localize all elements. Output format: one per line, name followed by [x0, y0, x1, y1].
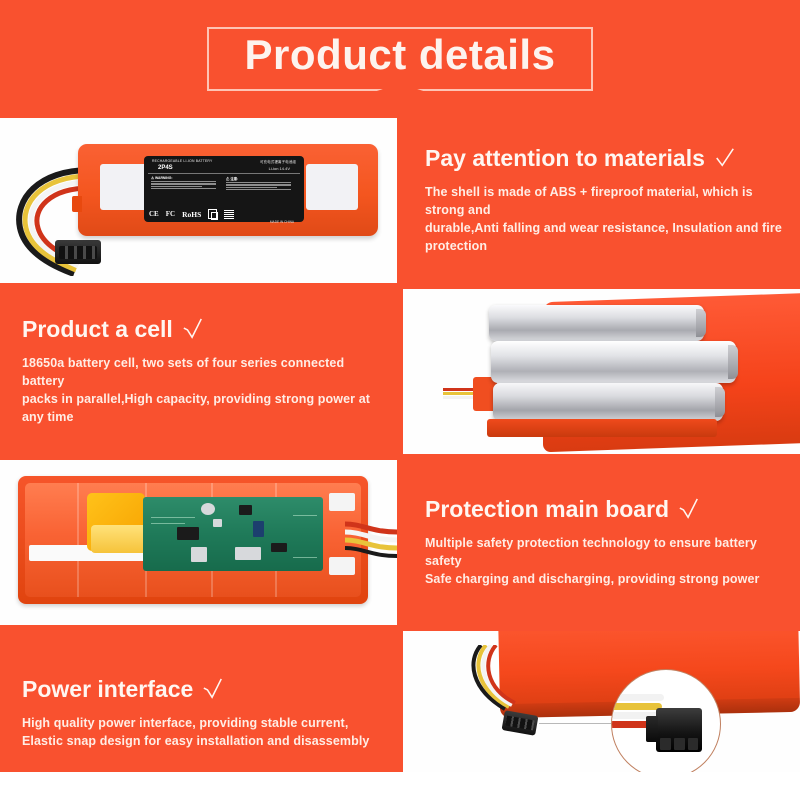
protection-body-line1: Multiple safety protection technology to…: [425, 534, 785, 570]
pack-pad-right: [306, 164, 358, 210]
footer-strip: [0, 772, 800, 800]
materials-body: The shell is made of ABS + fireproof mat…: [425, 183, 785, 256]
rohs-mark-icon: RoHS: [182, 210, 201, 219]
power-heading-text: Power interface: [22, 677, 193, 702]
label-model: 2P4S: [158, 165, 173, 171]
weee-bin-icon: [208, 209, 217, 219]
power-body: High quality power interface, providing …: [22, 714, 382, 750]
connector-magnifier: [611, 669, 721, 779]
materials-body-line1: The shell is made of ABS + fireproof mat…: [425, 183, 785, 219]
protection-heading-text: Protection main board: [425, 497, 669, 522]
fcc-mark-icon: FC: [166, 210, 175, 218]
shell-tray: [25, 483, 361, 597]
materials-heading: Pay attention to materials: [425, 146, 800, 171]
battery-label: RECHARGEABLE LI-ION BATTERY 可充电式锂离子电池组 2…: [144, 156, 304, 222]
power-body-line2: Elastic snap design for easy installatio…: [22, 732, 382, 750]
panel-materials: Pay attention to materials The shell is …: [403, 118, 800, 283]
battery-shell-open: [18, 476, 368, 604]
connector-housing: [656, 708, 702, 752]
power-body-line1: High quality power interface, providing …: [22, 714, 382, 732]
check-icon: [714, 147, 736, 169]
label-title-en: RECHARGEABLE LI-ION BATTERY: [152, 159, 212, 164]
banner-inner: Product details: [207, 27, 594, 91]
page-title: Product details: [245, 33, 556, 77]
pack-clip: [72, 196, 82, 212]
protection-pcb: [143, 497, 323, 571]
cell-body-line2: packs in parallel,High capacity, providi…: [22, 390, 382, 426]
cells-wires: [443, 388, 477, 400]
protection-body-line2: Safe charging and discharging, providing…: [425, 570, 785, 588]
cells-base: [487, 419, 717, 437]
connector-cable: [465, 645, 525, 715]
check-icon: [202, 678, 224, 700]
power-heading: Power interface: [22, 677, 397, 702]
cell-heading-text: Product a cell: [22, 317, 173, 342]
cell-18650-2: [491, 341, 736, 383]
product-details-grid: RECHARGEABLE LI-ION BATTERY 可充电式锂离子电池组 2…: [0, 118, 800, 796]
callout-leader-line: [539, 723, 617, 724]
label-title-cn: 可充电式锂离子电池组: [260, 159, 296, 164]
pcb-output-wires: [345, 518, 397, 560]
label-warning-cn: ⚠ 注意:: [226, 176, 297, 181]
materials-heading-text: Pay attention to materials: [425, 146, 705, 171]
photo-protection-board: [0, 460, 397, 625]
wire-connector-top: [329, 493, 355, 511]
protection-body: Multiple safety protection technology to…: [425, 534, 785, 588]
label-warning-en: ⚠ WARNING:: [151, 176, 222, 180]
title-banner: Product details: [0, 0, 800, 118]
recycle-mark-icon: [224, 209, 234, 219]
label-voltage: Li-ion 14.4V: [269, 166, 290, 171]
cell-body: 18650a battery cell, two sets of four se…: [22, 354, 382, 427]
ce-mark-icon: CE: [149, 210, 159, 218]
cell-18650-3: [493, 383, 723, 421]
cell-body-line1: 18650a battery cell, two sets of four se…: [22, 354, 382, 390]
panel-cell: Product a cell 18650a battery cell, two …: [0, 289, 397, 454]
cell-18650-1: [489, 305, 704, 341]
battery-pack-body: RECHARGEABLE LI-ION BATTERY 可充电式锂离子电池组 2…: [78, 144, 378, 236]
check-icon: [182, 318, 204, 340]
photo-battery-pack: RECHARGEABLE LI-ION BATTERY 可充电式锂离子电池组 2…: [0, 118, 397, 283]
cable-connector: [55, 240, 101, 264]
check-icon: [678, 498, 700, 520]
materials-body-line2: durable,Anti falling and wear resistance…: [425, 219, 785, 255]
certification-marks: CE FC RoHS MADE IN CHINA: [149, 209, 299, 219]
label-made-in: MADE IN CHINA: [270, 220, 294, 224]
panel-protection-board: Protection main board Multiple safety pr…: [403, 460, 800, 625]
cell-heading: Product a cell: [22, 317, 397, 342]
protection-heading: Protection main board: [425, 497, 800, 522]
photo-18650-cells: [403, 289, 800, 454]
